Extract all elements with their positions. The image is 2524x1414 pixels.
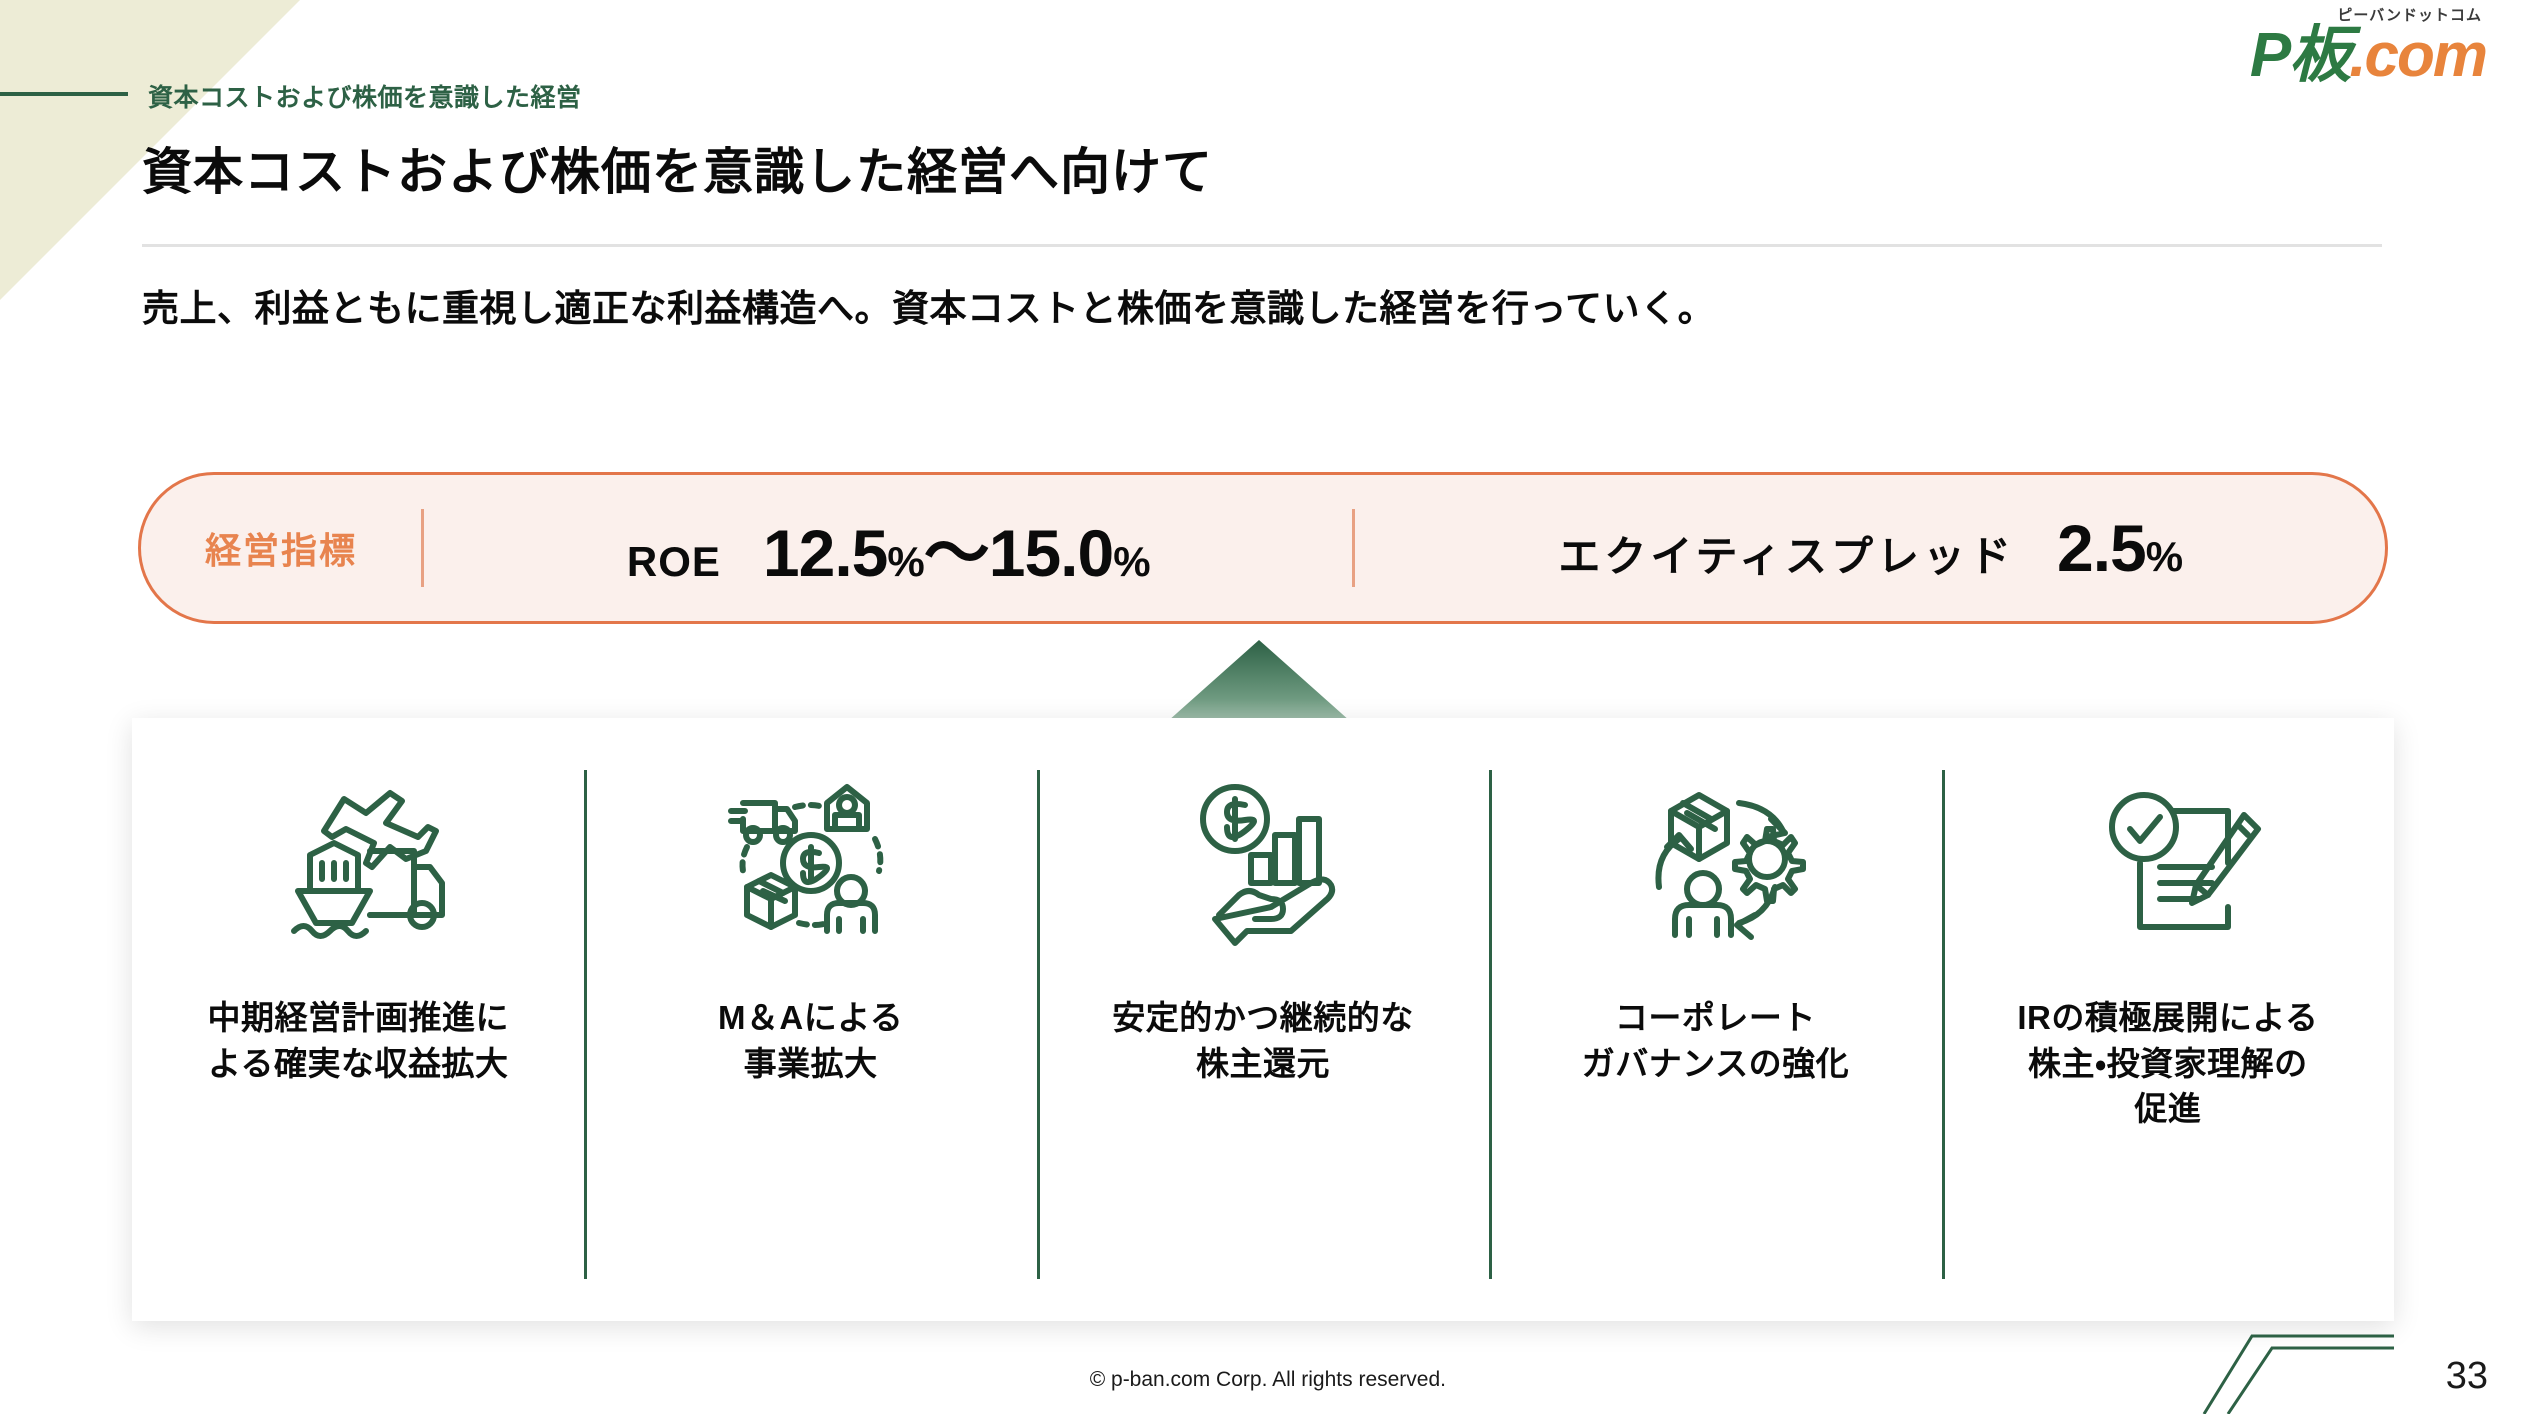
pillar-label: コーポレートガバナンスの強化	[1582, 995, 1849, 1086]
pillar-item: コーポレートガバナンスの強化	[1489, 718, 1941, 1321]
metric-roe-range-mark: 〜	[924, 516, 989, 590]
supply-chain-network-icon	[711, 760, 911, 965]
metric-equity-spread-value: 2.5%	[2057, 510, 2182, 586]
metric-equity-spread: エクイティスプレッド 2.5%	[1355, 510, 2385, 586]
pillar-label: M＆Aによる事業拡大	[718, 995, 903, 1086]
hand-growth-chart-icon	[1163, 760, 1363, 965]
corner-rule-decoration	[0, 92, 128, 96]
pillar-label: 安定的かつ継続的な株主還元	[1112, 995, 1414, 1086]
slide-root: ピーバンドットコム P板.com 資本コストおよび株価を意識した経営 資本コスト…	[0, 0, 2524, 1414]
page-number: 33	[2446, 1355, 2488, 1398]
logo-orange-text: .com	[2349, 21, 2486, 90]
pillar-item: 安定的かつ継続的な株主還元	[1037, 718, 1489, 1321]
metric-equity-spread-number: 2.5	[2057, 511, 2146, 585]
metric-roe-low-unit: %	[887, 538, 923, 585]
pillar-item: IRの積極展開による株主・投資家理解の促進	[1942, 718, 2394, 1321]
lede-text: 売上、利益ともに重視し適正な利益構造へ。資本コストと株価を意識した経営を行ってい…	[142, 278, 1715, 332]
logistics-transport-icon	[258, 760, 458, 965]
governance-cycle-icon	[1615, 760, 1815, 965]
document-check-pen-icon	[2068, 760, 2268, 965]
metric-roe-high: 15.0	[989, 516, 1113, 590]
metric-roe-value: 12.5%〜15.0%	[763, 500, 1150, 596]
metric-roe-name: ROE	[627, 538, 721, 586]
pillar-item: M＆Aによる事業拡大	[584, 718, 1036, 1321]
company-logo: ピーバンドットコム P板.com	[2250, 8, 2486, 87]
metric-roe-low: 12.5	[763, 516, 887, 590]
copyright-text: © p-ban.com Corp. All rights reserved.	[1090, 1368, 1446, 1392]
metric-equity-spread-name: エクイティスプレッド	[1558, 523, 2015, 584]
page-title: 資本コストおよび株価を意識した経営へ向けて	[142, 132, 1213, 204]
logo-wordmark: P板.com	[2250, 25, 2486, 87]
metric-roe-high-unit: %	[1113, 538, 1149, 585]
section-eyebrow: 資本コストおよび株価を意識した経営	[148, 78, 582, 114]
metric-roe: ROE 12.5%〜15.0%	[424, 500, 1352, 596]
metrics-pill: 経営指標 ROE 12.5%〜15.0% エクイティスプレッド 2.5%	[138, 472, 2388, 624]
metric-equity-spread-unit: %	[2146, 533, 2182, 580]
metrics-label: 経営指標	[141, 522, 421, 574]
logo-green-text: P板	[2250, 21, 2349, 90]
pillars-panel: 中期経営計画推進による確実な収益拡大	[132, 718, 2394, 1321]
pillar-item: 中期経営計画推進による確実な収益拡大	[132, 718, 584, 1321]
footer-slash-decoration	[2194, 1318, 2394, 1414]
pillar-label: IRの積極展開による株主・投資家理解の促進	[2017, 995, 2318, 1132]
title-divider	[142, 244, 2382, 247]
pillar-label: 中期経営計画推進による確実な収益拡大	[207, 995, 509, 1086]
